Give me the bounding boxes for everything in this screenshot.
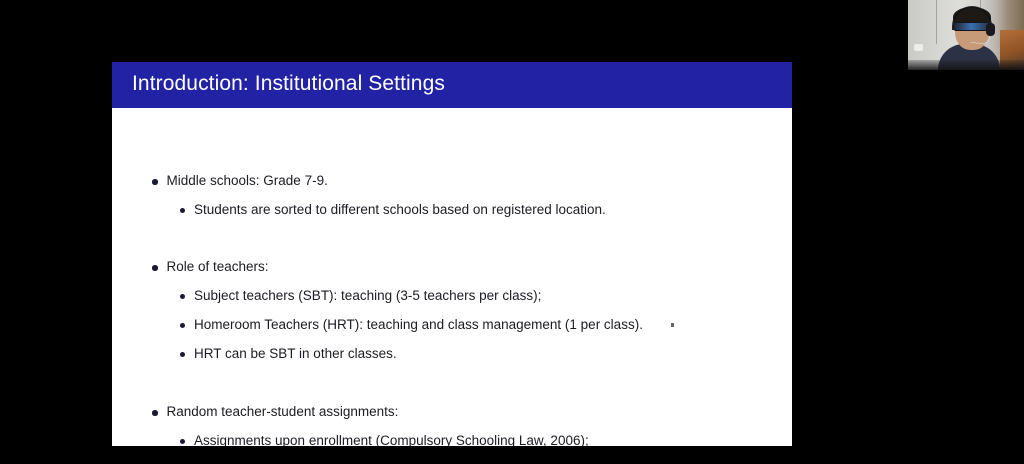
slide-bullet-level2: Subject teachers (SBT): teaching (3-5 te… xyxy=(180,287,541,304)
slide-title-bar: Introduction: Institutional Settings xyxy=(112,62,792,108)
slide-bullet-text: HRT can be SBT in other classes. xyxy=(194,345,397,362)
bullet-dot-icon xyxy=(152,410,158,416)
slide-bullet-level2: HRT can be SBT in other classes. xyxy=(180,345,397,362)
bullet-dot-icon xyxy=(180,352,185,357)
wall-seam-icon xyxy=(936,0,937,44)
presentation-slide: Introduction: Institutional Settings Mid… xyxy=(112,62,792,446)
slide-body: Middle schools: Grade 7-9.Students are s… xyxy=(112,108,792,446)
slide-bullet-text: Middle schools: Grade 7-9. xyxy=(167,172,328,189)
presenter-video-thumbnail[interactable] xyxy=(908,0,1024,70)
bullet-dot-icon xyxy=(180,323,185,328)
bullet-dot-icon xyxy=(180,439,185,444)
stray-ink-mark xyxy=(671,323,674,327)
wall-reflection xyxy=(914,44,923,51)
bullet-dot-icon xyxy=(152,179,158,185)
slide-bullet-text: Assignments upon enrollment (Compulsory … xyxy=(194,432,589,446)
bullet-dot-icon xyxy=(152,265,158,271)
bullet-dot-icon xyxy=(180,294,185,299)
slide-bullet-text: Homeroom Teachers (HRT): teaching and cl… xyxy=(194,316,643,333)
webcam-lower-shadow xyxy=(908,60,1024,70)
slide-bullet-level1: Random teacher-student assignments: xyxy=(152,403,398,420)
bullet-dot-icon xyxy=(180,208,185,213)
screen-share-stage: Introduction: Institutional Settings Mid… xyxy=(0,0,1024,464)
slide-bullet-text: Subject teachers (SBT): teaching (3-5 te… xyxy=(194,287,541,304)
slide-bullet-text: Role of teachers: xyxy=(167,258,269,275)
slide-title: Introduction: Institutional Settings xyxy=(132,72,445,96)
slide-bullet-level2: Students are sorted to different schools… xyxy=(180,201,606,218)
slide-bullet-level1: Middle schools: Grade 7-9. xyxy=(152,172,328,189)
webcam-scene xyxy=(908,0,1024,70)
headset-earcup-icon xyxy=(986,23,995,36)
slide-bullet-text: Random teacher-student assignments: xyxy=(167,403,399,420)
slide-bullet-level2: Assignments upon enrollment (Compulsory … xyxy=(180,432,589,446)
slide-bullet-text: Students are sorted to different schools… xyxy=(194,201,606,218)
slide-bullet-level1: Role of teachers: xyxy=(152,258,269,275)
slide-bullet-level2: Homeroom Teachers (HRT): teaching and cl… xyxy=(180,316,643,333)
